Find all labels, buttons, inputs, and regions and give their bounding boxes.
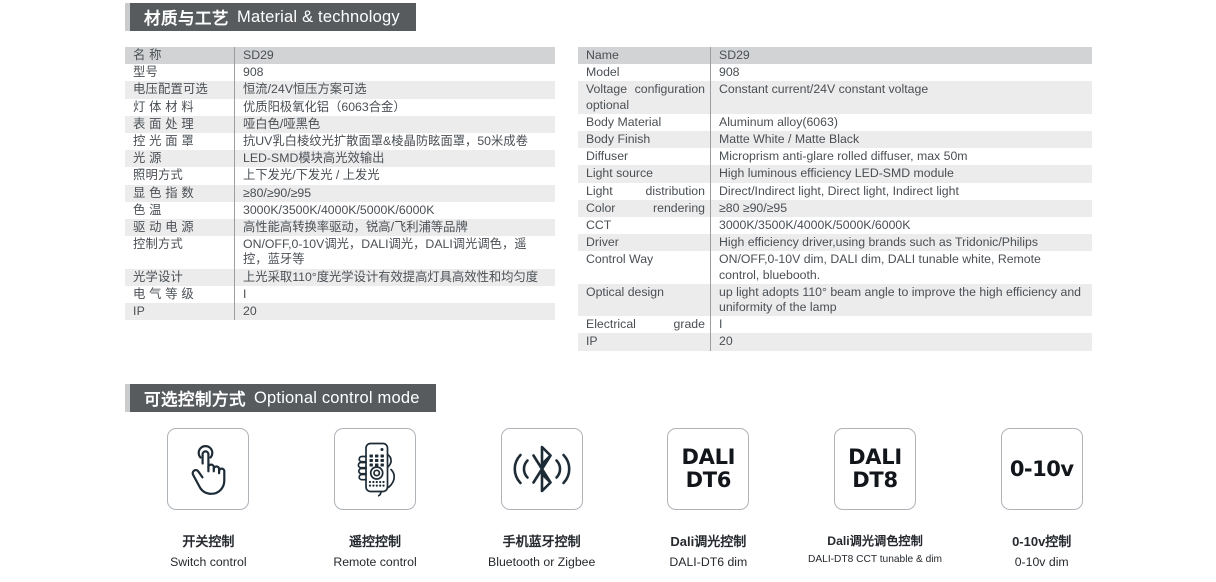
remote-hand-icon [347,440,403,498]
spec-key: IP [578,333,711,350]
spec-key: Electrical grade [578,316,711,333]
control-mode-item: DALIDT8Dali调光调色控制DALI-DT8 CCT tunable & … [792,428,959,569]
section-header-control-cn: 可选控制方式 [144,386,246,410]
control-mode-item: 0-10v0-10v控制0-10v dim [958,428,1125,569]
spec-value: 上光采取110°度光学设计有效提高灯具高效性和均匀度 [235,269,555,286]
touch-hand-icon-box [167,428,249,510]
spec-value: 恒流/24V恒压方案可选 [235,81,555,98]
spec-value: 20 [711,333,1092,350]
control-mode-list: 开关控制Switch control 遥控控制Remote control 手机… [125,428,1125,569]
spec-key: 控 光 面 罩 [125,133,235,150]
spec-key: 名 称 [125,47,235,64]
table-row: CCT3000K/3500K/4000K/5000K/6000K [578,217,1092,234]
spec-key: 显 色 指 数 [125,185,235,202]
spec-value: SD29 [711,47,1092,64]
spec-table-english-body: NameSD29Model908Voltage configuration op… [578,47,1092,351]
spec-key: 照明方式 [125,167,235,184]
dali-dt8-icon-box: DALIDT8 [834,428,916,510]
spec-value: 优质阳极氧化铝（6063合金） [235,99,555,116]
table-row: Voltage configuration optionalConstant c… [578,81,1092,113]
table-row: Color rendering≥80 ≥90/≥95 [578,200,1092,217]
spec-key: Model [578,64,711,81]
table-row: 电压配置可选恒流/24V恒压方案可选 [125,81,555,98]
table-row: Electrical gradeI [578,316,1092,333]
spec-value: ≥80 ≥90/≥95 [711,200,1092,217]
spec-value: ON/OFF,0-10V dim, DALI dim, DALI tunable… [711,251,1092,283]
spec-key: Optical design [578,284,711,316]
table-row: Control WayON/OFF,0-10V dim, DALI dim, D… [578,251,1092,283]
table-row: 色 温3000K/3500K/4000K/5000K/6000K [125,202,555,219]
bluetooth-wave-icon-box [501,428,583,510]
spec-value: Aluminum alloy(6063) [711,114,1092,131]
spec-value: 908 [235,64,555,81]
spec-key: 电 气 等 级 [125,286,235,303]
control-mode-label-cn: 手机蓝牙控制 [503,531,581,550]
remote-hand-icon-box [334,428,416,510]
control-mode-item: 开关控制Switch control [125,428,292,569]
spec-value: SD29 [235,47,555,64]
spec-value: 3000K/3500K/4000K/5000K/6000K [711,217,1092,234]
spec-value: 抗UV乳白棱纹光扩散面罩&棱晶防眩面罩，50米成卷 [235,133,555,150]
table-row: Light sourceHigh luminous efficiency LED… [578,165,1092,182]
table-row: DiffuserMicroprism anti-glare rolled dif… [578,148,1092,165]
dali-dt8-icon: DALIDT8 [848,446,902,492]
spec-value: 3000K/3500K/4000K/5000K/6000K [235,202,555,219]
control-mode-label-cn: 0-10v控制 [1012,531,1071,550]
section-header-material-cn: 材质与工艺 [144,5,229,29]
bluetooth-wave-icon [511,442,573,496]
spec-value: up light adopts 110° beam angle to impro… [711,284,1092,316]
table-row: 光学设计上光采取110°度光学设计有效提高灯具高效性和均匀度 [125,269,555,286]
zero-ten-volt-icon: 0-10v [1010,457,1074,481]
spec-value: High efficiency driver,using brands such… [711,234,1092,251]
spec-key: Body Finish [578,131,711,148]
spec-key: 光 源 [125,150,235,167]
spec-value: Constant current/24V constant voltage [711,81,1092,113]
table-row: 名 称SD29 [125,47,555,64]
spec-key: Light distribution [578,183,711,200]
spec-key: Driver [578,234,711,251]
section-header-control-en: Optional control mode [254,389,420,408]
control-mode-item: 遥控控制Remote control [292,428,459,569]
table-row: 照明方式上下发光/下发光 / 上发光 [125,167,555,184]
control-mode-label-cn: Dali调光调色控制 [827,531,922,549]
spec-key: 驱 动 电 源 [125,219,235,236]
spec-table-english: NameSD29Model908Voltage configuration op… [578,47,1092,351]
section-header-control: 可选控制方式 Optional control mode [125,384,436,412]
table-row: NameSD29 [578,47,1092,64]
spec-value: High luminous efficiency LED-SMD module [711,165,1092,182]
control-mode-label-cn: Dali调光控制 [670,531,746,550]
spec-value: ≥80/≥90/≥95 [235,185,555,202]
spec-key: Control Way [578,251,711,283]
table-row: 型号908 [125,64,555,81]
spec-key: Color rendering [578,200,711,217]
table-row: IP20 [125,303,555,320]
table-row: 控 光 面 罩抗UV乳白棱纹光扩散面罩&棱晶防眩面罩，50米成卷 [125,133,555,150]
table-row: 显 色 指 数≥80/≥90/≥95 [125,185,555,202]
spec-value: 哑白色/哑黑色 [235,116,555,133]
zero-ten-volt-icon-box: 0-10v [1001,428,1083,510]
control-mode-label-en: DALI-DT6 dim [669,555,747,569]
spec-key: 控制方式 [125,236,235,268]
table-row: DriverHigh efficiency driver,using brand… [578,234,1092,251]
spec-key: 表 面 处 理 [125,116,235,133]
section-header-material-en: Material & technology [237,8,400,27]
spec-key: 色 温 [125,202,235,219]
table-row: Body MaterialAluminum alloy(6063) [578,114,1092,131]
spec-key: Voltage configuration optional [578,81,711,113]
spec-key: Diffuser [578,148,711,165]
spec-key: Body Material [578,114,711,131]
spec-value: 高性能高转换率驱动，锐高/飞利浦等品牌 [235,219,555,236]
table-row: 灯 体 材 料优质阳极氧化铝（6063合金） [125,99,555,116]
table-row: 电 气 等 级I [125,286,555,303]
spec-key: 光学设计 [125,269,235,286]
spec-key: Light source [578,165,711,182]
spec-key: Name [578,47,711,64]
spec-table-chinese: 名 称SD29型号908电压配置可选恒流/24V恒压方案可选灯 体 材 料优质阳… [125,47,555,320]
spec-value: Direct/Indirect light, Direct light, Ind… [711,183,1092,200]
control-mode-label-cn: 开关控制 [182,531,234,550]
control-mode-label-en: Bluetooth or Zigbee [488,555,595,569]
table-row: Optical designup light adopts 110° beam … [578,284,1092,316]
spec-key: 灯 体 材 料 [125,99,235,116]
spec-value: 20 [235,303,555,320]
control-mode-item: 手机蓝牙控制Bluetooth or Zigbee [458,428,625,569]
spec-value: I [711,316,1092,333]
spec-value: LED-SMD模块高光效输出 [235,150,555,167]
dali-dt6-icon: DALIDT6 [682,446,736,492]
table-row: Body FinishMatte White / Matte Black [578,131,1092,148]
spec-key: CCT [578,217,711,234]
spec-value: I [235,286,555,303]
control-mode-label-cn: 遥控控制 [349,531,401,550]
spec-value: 908 [711,64,1092,81]
dali-dt6-icon-box: DALIDT6 [667,428,749,510]
control-mode-label-en: Remote control [333,555,416,569]
spec-value: 上下发光/下发光 / 上发光 [235,167,555,184]
table-row: 控制方式 ON/OFF,0-10V调光，DALI调光，DALI调光调色，遥控，蓝… [125,236,555,268]
spec-key: 电压配置可选 [125,81,235,98]
table-row: IP20 [578,333,1092,350]
spec-key: IP [125,303,235,320]
table-row: Model908 [578,64,1092,81]
control-mode-label-en: DALI-DT8 CCT tunable & dim [808,554,942,565]
table-row: 光 源LED-SMD模块高光效输出 [125,150,555,167]
control-mode-item: DALIDT6Dali调光控制DALI-DT6 dim [625,428,792,569]
section-header-material: 材质与工艺 Material & technology [125,3,416,31]
table-row: 表 面 处 理哑白色/哑黑色 [125,116,555,133]
control-mode-label-en: Switch control [170,555,247,569]
table-row: 驱 动 电 源高性能高转换率驱动，锐高/飞利浦等品牌 [125,219,555,236]
table-row: Light distributionDirect/Indirect light,… [578,183,1092,200]
control-mode-label-en: 0-10v dim [1015,555,1069,569]
spec-key: 型号 [125,64,235,81]
spec-value: Matte White / Matte Black [711,131,1092,148]
spec-table-chinese-body: 名 称SD29型号908电压配置可选恒流/24V恒压方案可选灯 体 材 料优质阳… [125,47,555,320]
touch-hand-icon [183,441,233,497]
spec-value: Microprism anti-glare rolled diffuser, m… [711,148,1092,165]
spec-value: ON/OFF,0-10V调光，DALI调光，DALI调光调色，遥控，蓝牙等 [235,236,555,268]
